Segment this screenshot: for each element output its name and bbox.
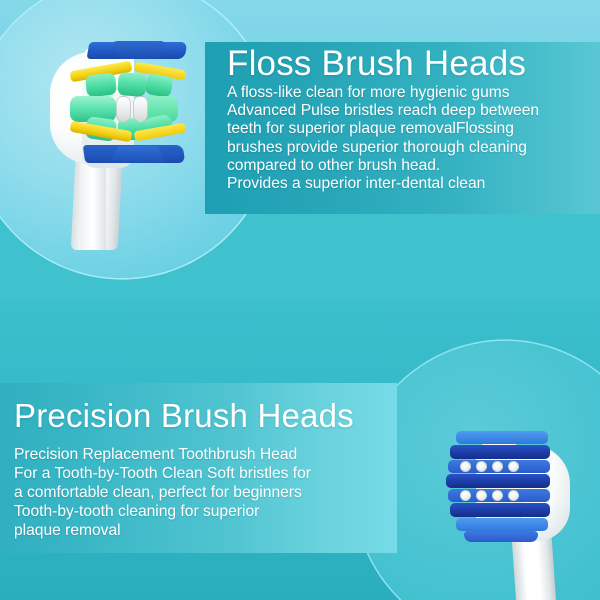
floss-brush-head-photo [24, 30, 214, 245]
precision-body-line-5: plaque removal [14, 521, 394, 540]
floss-text-block: Floss Brush Heads A floss-like clean for… [227, 44, 599, 193]
precision-bristle-row-8 [464, 531, 538, 542]
floss-bristle-white-center-2 [133, 96, 148, 122]
precision-white-dot-3 [492, 461, 503, 472]
floss-bristle-white-center-1 [116, 96, 131, 122]
floss-body-line-3: teeth for superior plaque removalFlossin… [227, 120, 599, 138]
precision-white-dot-7 [492, 490, 503, 501]
precision-bristle-row-2 [450, 445, 550, 459]
precision-bristle-row-6 [450, 503, 550, 517]
floss-body-line-2: Advanced Pulse bristles reach deep betwe… [227, 102, 599, 120]
precision-white-dot-5 [460, 490, 471, 501]
floss-heading: Floss Brush Heads [227, 44, 599, 84]
precision-body-line-2: For a Tooth-by-Tooth Clean Soft bristles… [14, 464, 394, 483]
precision-white-dot-2 [476, 461, 487, 472]
floss-bristle-green-3 [144, 73, 173, 98]
product-feature-banner: Floss Brush Heads A floss-like clean for… [0, 0, 600, 600]
precision-body-text: Precision Replacement Toothbrush Head Fo… [14, 445, 394, 540]
precision-brush-head-photo [440, 425, 600, 600]
precision-bristle-row-4 [446, 474, 550, 488]
floss-body-line-1: A floss-like clean for more hygienic gum… [227, 84, 599, 102]
floss-body-line-4: brushes provide superior thorough cleani… [227, 139, 599, 157]
precision-body-line-4: Tooth-by-tooth cleaning for superior [14, 502, 394, 521]
precision-bristle-row-1 [456, 431, 548, 444]
precision-white-dot-6 [476, 490, 487, 501]
precision-white-dot-4 [508, 461, 519, 472]
floss-body-text: A floss-like clean for more hygienic gum… [227, 84, 599, 193]
floss-body-line-6: Provides a superior inter-dental clean [227, 175, 599, 193]
precision-white-dot-8 [508, 490, 519, 501]
precision-body-line-1: Precision Replacement Toothbrush Head [14, 445, 394, 464]
floss-bristle-green-1 [85, 72, 117, 97]
precision-bristle-row-7 [456, 518, 548, 531]
precision-body-line-3: a comfortable clean, perfect for beginne… [14, 483, 394, 502]
precision-white-dot-1 [460, 461, 471, 472]
floss-bristle-green-2 [117, 72, 147, 97]
precision-text-block: Precision Brush Heads Precision Replacem… [14, 396, 394, 540]
precision-heading: Precision Brush Heads [14, 396, 394, 436]
floss-bristle-blue-bottom-wing [110, 146, 166, 163]
floss-body-line-5: compared to other brush head. [227, 157, 599, 175]
floss-bristle-blue-top-wing [112, 41, 166, 59]
